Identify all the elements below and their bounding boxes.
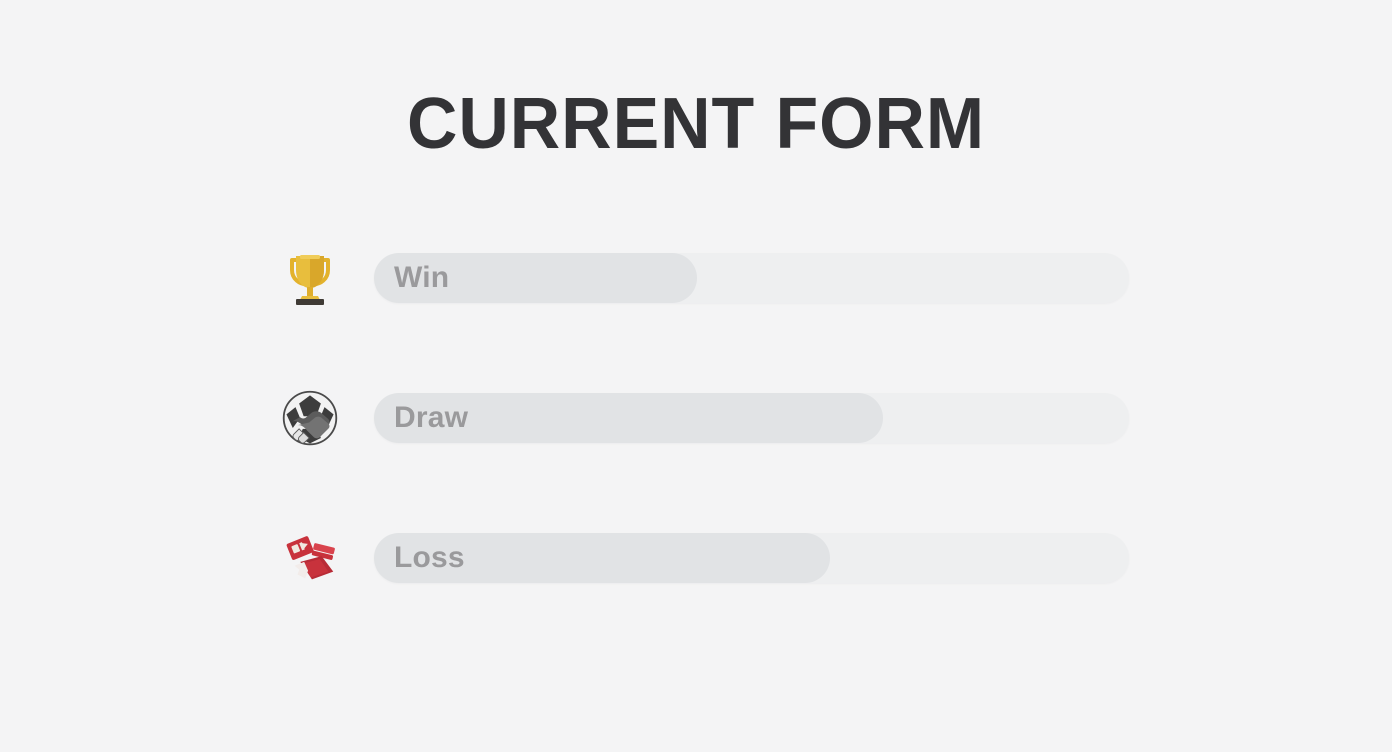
bar-fill-draw: Draw <box>374 393 883 443</box>
bar-track-loss[interactable]: Loss <box>374 533 1129 583</box>
handshake-football-icon <box>276 384 344 452</box>
form-row-win: Win <box>0 253 1392 303</box>
form-row-loss: Loss <box>0 533 1392 583</box>
bar-track-win[interactable]: Win <box>374 253 1129 303</box>
form-row-draw: Draw <box>0 393 1392 443</box>
bar-label-win: Win <box>374 261 449 295</box>
page-title: CURRENT FORM <box>21 88 1371 160</box>
form-rows-container: Win Draw <box>0 253 1392 673</box>
bar-fill-loss: Loss <box>374 533 830 583</box>
bar-label-loss: Loss <box>374 541 465 575</box>
red-cards-icon <box>276 524 344 592</box>
bar-label-draw: Draw <box>374 401 468 435</box>
bar-fill-win: Win <box>374 253 697 303</box>
trophy-icon <box>276 244 344 312</box>
bar-track-draw[interactable]: Draw <box>374 393 1129 443</box>
